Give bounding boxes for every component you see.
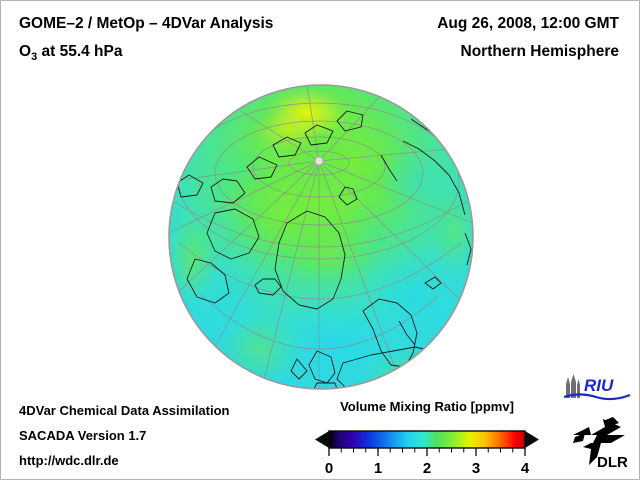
- datetime-label: Aug 26, 2008, 12:00 GMT: [437, 15, 619, 33]
- colorbar-extend-high: [525, 431, 539, 448]
- visualization-page: GOME–2 / MetOp – 4DVar Analysis O3 at 55…: [0, 0, 640, 480]
- species-symbol: O: [19, 43, 31, 60]
- colorbar-tick-label: 0: [325, 460, 333, 477]
- riu-logo: RIU: [562, 372, 634, 404]
- orthographic-projection: [167, 83, 475, 391]
- page-title: GOME–2 / MetOp – 4DVar Analysis: [19, 15, 273, 33]
- footer-line-url[interactable]: http://wdc.dlr.de: [19, 453, 119, 468]
- globe-map: [167, 83, 475, 391]
- dlr-logo: DLR: [567, 413, 633, 475]
- region-label: Northern Hemisphere: [461, 43, 619, 61]
- colorbar-extend-low: [315, 431, 329, 448]
- colorbar-tick-label: 1: [374, 460, 382, 477]
- riu-wordmark: RIU: [584, 376, 614, 395]
- species-level-label: O3 at 55.4 hPa: [19, 43, 122, 63]
- colorbar-tick-label: 2: [423, 460, 431, 477]
- colorbar-ticks: [329, 448, 525, 456]
- footer-line-assimilation: 4DVar Chemical Data Assimilation: [19, 403, 230, 418]
- species-level-text: at 55.4 hPa: [37, 43, 122, 60]
- colorbar-tick-label: 3: [472, 460, 480, 477]
- colorbar-title: Volume Mixing Ratio [ppmv]: [311, 399, 543, 414]
- colorbar-tick-label: 4: [521, 460, 530, 477]
- colorbar: Volume Mixing Ratio [ppmv]: [311, 399, 543, 480]
- colorbar-scale: 0 1 2 3 4: [311, 418, 543, 480]
- north-pole-marker: [315, 157, 323, 165]
- dlr-wordmark: DLR: [597, 454, 628, 471]
- footer-line-version: SACADA Version 1.7: [19, 428, 146, 443]
